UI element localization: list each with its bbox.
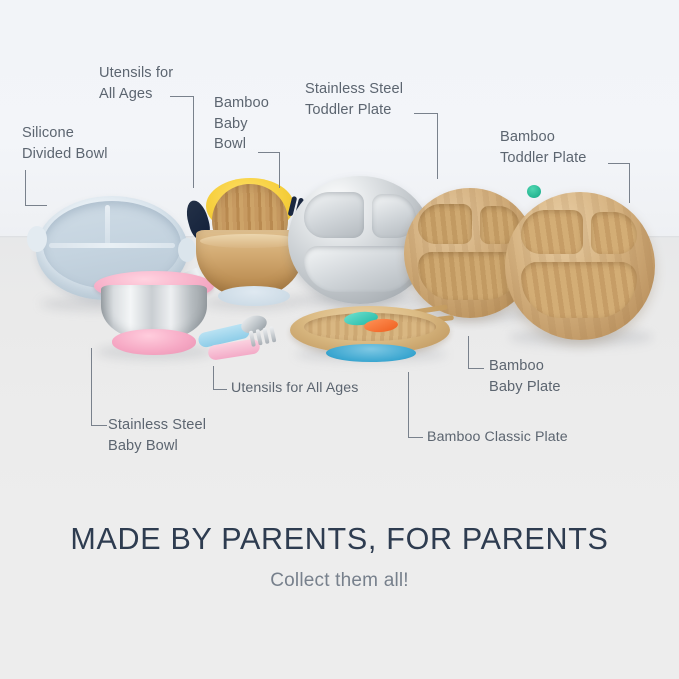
- plate-compartment-1: [521, 210, 583, 254]
- headline: MADE BY PARENTS, FOR PARENTS: [0, 522, 679, 557]
- plate-compartment-3: [521, 262, 637, 318]
- callout-label-utensils-bottom: Utensils for All Ages: [231, 378, 358, 399]
- leader-line-utensils-top: [170, 96, 194, 188]
- bowl-tab-right: [178, 238, 196, 262]
- plate-compartment-1: [304, 192, 364, 238]
- plate-compartment-2: [591, 212, 637, 254]
- product-infographic: Silicone Divided Bowl Utensils for All A…: [0, 0, 679, 679]
- product-bamboo-toddler-plate: [505, 192, 655, 342]
- callout-label-bamboo-baby-bowl: Bamboo Baby Bowl: [214, 93, 269, 155]
- callout-label-silicone-divided-bowl: Silicone Divided Bowl: [22, 123, 108, 164]
- leader-line-stainless-steel-baby-bowl: [91, 348, 107, 426]
- callout-label-bamboo-classic-plate: Bamboo Classic Plate: [427, 427, 568, 448]
- callout-label-utensils-top: Utensils for All Ages: [99, 63, 173, 104]
- subline: Collect them all!: [0, 570, 679, 592]
- plate-compartment-1: [418, 204, 472, 244]
- product-bamboo-classic-plate: [290, 306, 450, 362]
- callout-label-stainless-steel-toddler-plate: Stainless Steel Toddler Plate: [305, 79, 403, 120]
- bowl-tab-left: [27, 226, 47, 252]
- leader-line-bamboo-toddler-plate: [608, 163, 630, 203]
- blue-suction-base: [326, 344, 416, 362]
- callout-label-bamboo-toddler-plate: Bamboo Toddler Plate: [500, 127, 586, 168]
- bowl-divider-horizontal: [49, 243, 175, 248]
- pink-suction-base: [112, 329, 196, 355]
- leader-line-bamboo-baby-bowl: [258, 152, 280, 188]
- leader-line-utensils-bottom: [213, 366, 227, 390]
- leader-line-bamboo-classic-plate: [408, 372, 423, 438]
- leader-line-bamboo-baby-plate: [468, 336, 484, 369]
- callout-label-stainless-steel-baby-bowl: Stainless Steel Baby Bowl: [108, 415, 206, 456]
- leader-line-stainless-steel-toddler-plate: [414, 113, 438, 179]
- leader-line-silicone-divided-bowl: [25, 170, 47, 206]
- plate-compartment-3: [304, 246, 416, 292]
- green-suction-cup: [527, 185, 541, 198]
- callout-label-bamboo-baby-plate: Bamboo Baby Plate: [489, 356, 561, 397]
- bowl-suction-base: [218, 286, 290, 306]
- bowl-divider-vertical: [105, 205, 110, 245]
